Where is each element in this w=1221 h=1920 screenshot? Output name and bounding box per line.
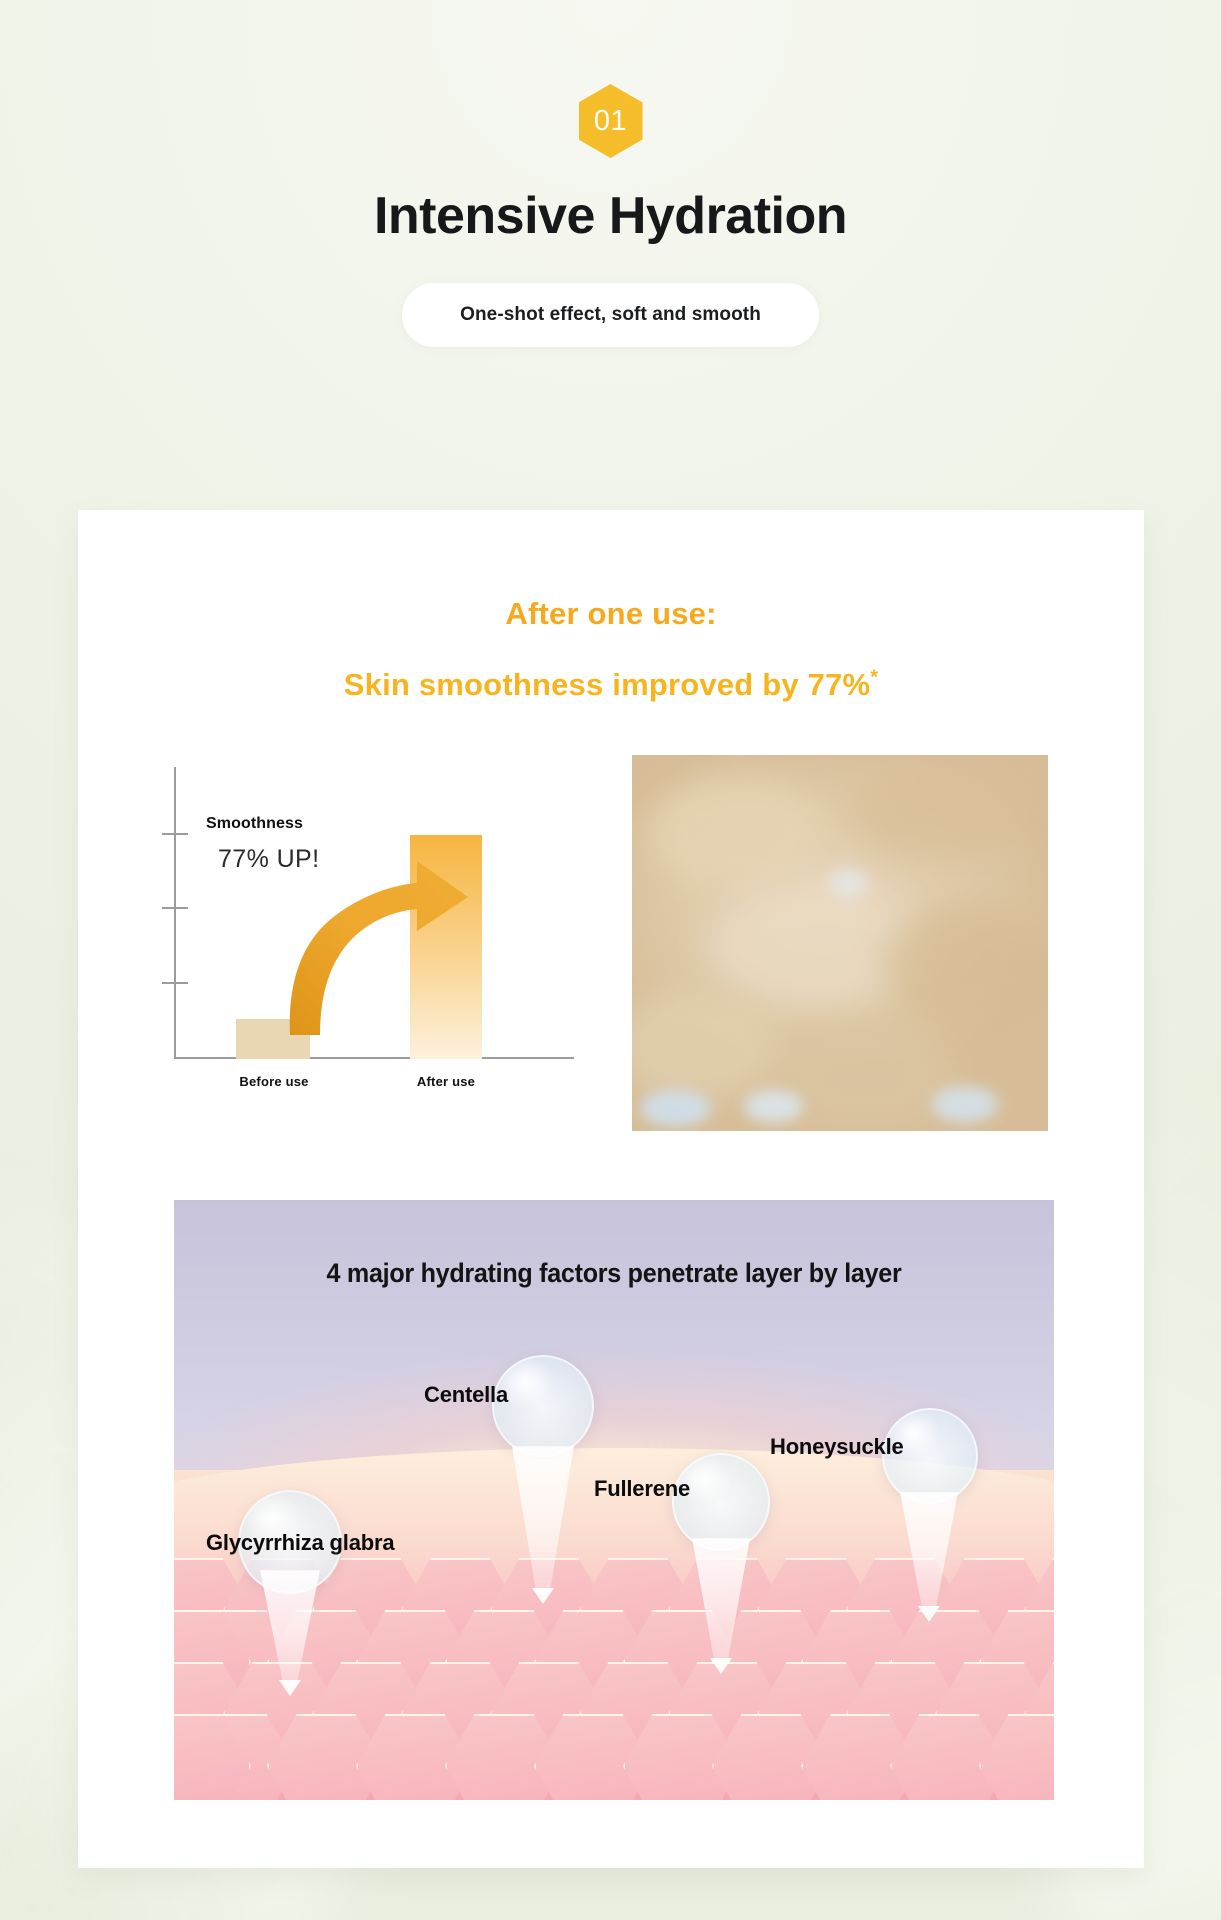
ingredient-label-fullerene: Fullerene [594,1476,784,1502]
improvement-heading: Skin smoothness improved by 77%* [78,667,1144,703]
after-use-heading: After one use: [78,596,1144,632]
ingredient-label-honeysuckle: Honeysuckle [770,1434,1000,1460]
ingredient-bubble-fullerene [672,1453,770,1551]
ingredient-label-centella: Centella [424,1382,604,1408]
smoothness-bar-chart: Smoothness 77% UP! Before use After use [174,767,584,1097]
content-card: After one use: Skin smoothness improved … [78,510,1144,1868]
skin-photo-blob [882,905,1048,1025]
skin-photo-sparkle [828,868,870,898]
improvement-heading-text: Skin smoothness improved by 77% [344,667,870,702]
chart-y-tick [162,907,188,909]
page-header: 01 Intensive Hydration One-shot effect, … [0,0,1221,347]
chart-y-tick [162,982,188,984]
ingredient-label-glycyrrhiza: Glycyrrhiza glabra [206,1530,396,1556]
penetration-arrow-icon [918,1606,940,1622]
section-number-label: 01 [594,107,627,136]
skin-penetration-illustration: 4 major hydrating factors penetrate laye… [174,1200,1054,1800]
penetration-arrow-icon [532,1588,554,1604]
skin-photo-blob [773,1018,956,1131]
skin-photo-blob [649,778,824,891]
skin-texture-photo [632,755,1048,1131]
skin-photo-blob [848,763,1014,861]
results-row: Smoothness 77% UP! Before use After use [78,755,1144,1155]
chart-category-label: Before use [204,1074,344,1089]
illustration-title: 4 major hydrating factors penetrate laye… [205,1258,1023,1289]
chart-y-tick [162,833,188,835]
chart-x-axis [174,1057,574,1059]
footnote-asterisk: * [870,667,878,689]
growth-arrow-icon [254,839,484,1039]
subtitle-pill: One-shot effect, soft and smooth [402,283,819,347]
chart-title: Smoothness [206,815,303,833]
page-title: Intensive Hydration [0,188,1221,245]
skin-photo-sparkle [744,1090,802,1124]
penetration-arrow-icon [279,1680,301,1696]
chart-y-axis [174,767,176,1059]
chart-category-label: After use [378,1074,514,1089]
skin-photo-sparkle [640,1090,711,1128]
penetration-arrow-icon [710,1658,732,1674]
section-number-badge: 01 [579,84,643,158]
